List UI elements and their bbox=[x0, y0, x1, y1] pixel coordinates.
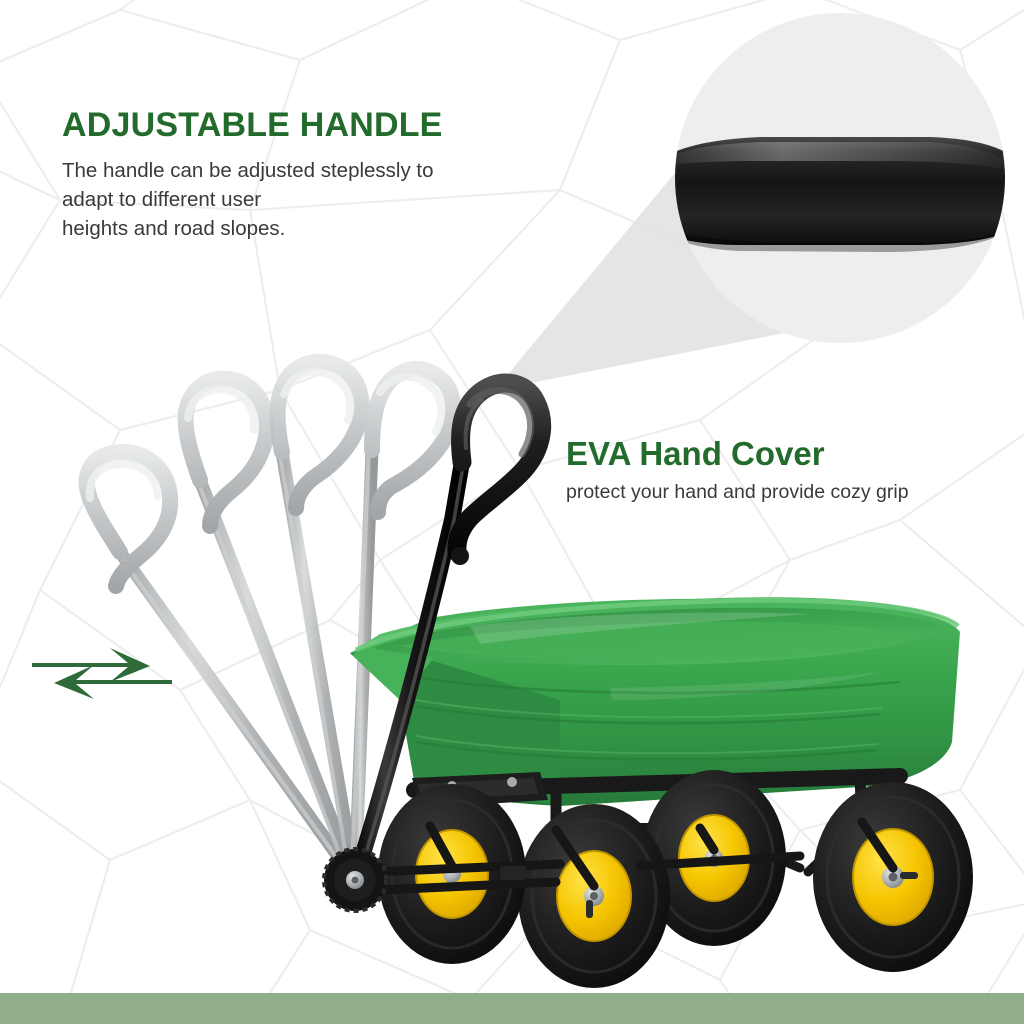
bottom-accent-bar bbox=[0, 993, 1024, 1024]
description-line-1: The handle can be adjusted steplessly to bbox=[62, 156, 540, 185]
adjustable-handle-description: The handle can be adjusted steplessly to… bbox=[62, 156, 540, 243]
page-title: ADJUSTABLE HANDLE bbox=[62, 108, 542, 144]
ratchet-pivot-disc bbox=[324, 849, 386, 911]
description-line-3: heights and road slopes. bbox=[62, 214, 540, 243]
infographic-canvas: ADJUSTABLE HANDLE The handle can be adju… bbox=[0, 0, 1024, 1024]
bidirectional-adjust-arrows-icon bbox=[32, 630, 172, 710]
eva-hand-cover-title: EVA Hand Cover bbox=[566, 437, 1018, 472]
eva-hand-cover-subtitle: protect your hand and provide cozy grip bbox=[566, 479, 1018, 505]
handle-shaft bbox=[355, 462, 462, 880]
adjustable-handle-text-block: ADJUSTABLE HANDLE The handle can be adju… bbox=[62, 108, 542, 243]
description-line-2: adapt to different user bbox=[62, 185, 540, 214]
eva-hand-cover-text-block: EVA Hand Cover protect your hand and pro… bbox=[566, 437, 1018, 505]
